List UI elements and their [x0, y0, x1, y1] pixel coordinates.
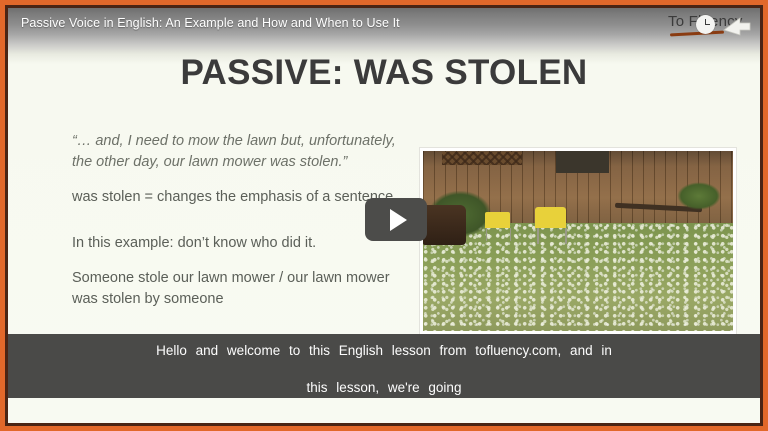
slide-example-intro: In this example: don’t know who did it.	[72, 233, 412, 254]
slide-header-bar: Passive Voice in English: An Example and…	[8, 8, 760, 38]
clock-icon	[696, 15, 715, 34]
lesson-title: Passive Voice in English: An Example and…	[21, 16, 400, 30]
caption-line-1: Hello and welcome to this English lesson…	[8, 341, 760, 360]
player-inner-bevel: Passive Voice in English: An Example and…	[5, 5, 763, 426]
slide-image-frame	[420, 148, 736, 334]
slide-headline: PASSIVE: WAS STOLEN	[8, 53, 760, 93]
fence-lattice	[442, 152, 523, 166]
player-control-strip[interactable]	[8, 398, 760, 423]
play-triangle-icon	[390, 209, 407, 231]
lawn-weed-speckle	[423, 223, 733, 331]
brand-underline	[670, 31, 724, 37]
right-bush	[677, 182, 720, 211]
tree-stump	[423, 205, 466, 245]
slide-quote: “… and, I need to mow the lawn but, unfo…	[72, 131, 412, 173]
play-button[interactable]	[365, 198, 427, 241]
text-spacer	[72, 222, 412, 233]
yellow-chair-left	[485, 212, 510, 228]
slide-body-text: “… and, I need to mow the lawn but, unfo…	[72, 131, 412, 324]
yellow-chair-right	[535, 207, 566, 229]
fence-dark-panel	[556, 151, 609, 173]
brand-logo: To Fluency	[668, 10, 752, 40]
arrow-forward-icon	[722, 14, 752, 41]
slide-definition: was stolen = changes the emphasis of a s…	[72, 187, 412, 208]
video-player-frame: Passive Voice in English: An Example and…	[0, 0, 768, 431]
slide-example-pair: Someone stole our lawn mower / our lawn …	[72, 268, 412, 310]
slide-stage[interactable]: Passive Voice in English: An Example and…	[8, 8, 760, 423]
backyard-photo	[423, 151, 733, 331]
caption-overlay: Hello and welcome to this English lesson…	[8, 334, 760, 406]
caption-line-2: this lesson, we're going	[8, 378, 760, 397]
